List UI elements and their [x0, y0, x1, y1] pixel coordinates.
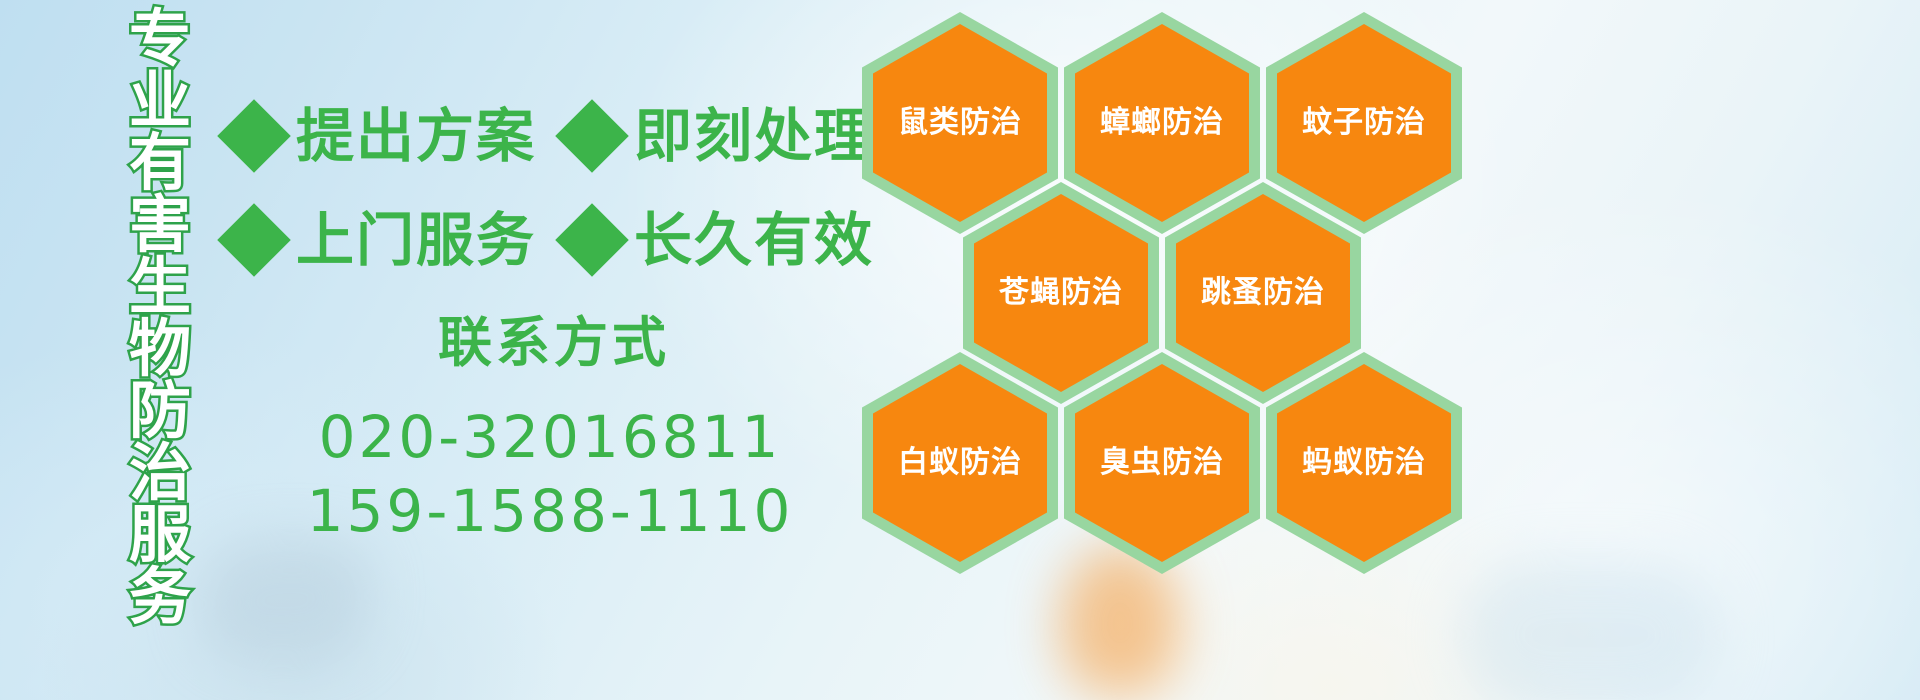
feature-item-onsite-service: 上门服务 — [228, 211, 536, 269]
feature-item-propose-plan: 提出方案 — [228, 107, 536, 165]
vertical-headline-char: 治 — [129, 442, 191, 504]
feature-row: 提出方案 即刻处理 — [228, 84, 868, 188]
phone-number-landline[interactable]: 020-32016811 — [300, 400, 800, 474]
vertical-headline-char: 业 — [129, 70, 191, 132]
service-hex-label: 苍蝇防治 — [999, 278, 1123, 308]
vertical-headline-char: 物 — [129, 318, 191, 380]
hex-inner: 白蚁防治 — [873, 364, 1047, 562]
service-hex-label: 跳蚤防治 — [1201, 278, 1325, 308]
hex-inner: 蟑螂防治 — [1075, 24, 1249, 222]
feature-row: 上门服务 长久有效 — [228, 188, 868, 292]
vertical-headline-char: 有 — [129, 132, 191, 194]
hex-inner: 蚊子防治 — [1277, 24, 1451, 222]
vertical-headline-char: 害 — [129, 194, 191, 256]
service-hex-label: 鼠类防治 — [898, 108, 1022, 138]
contact-heading: 联系方式 — [308, 312, 800, 374]
feature-label: 提出方案 — [296, 107, 536, 165]
phone-number-mobile[interactable]: 159-1588-1110 — [300, 474, 800, 548]
pest-control-promo-banner: 专 业 有 害 生 物 防 治 服 务 提出方案 即刻处理 上门服务 — [0, 0, 1920, 700]
diamond-icon — [555, 203, 629, 277]
hex-inner: 跳蚤防治 — [1176, 194, 1350, 392]
vertical-headline-char: 防 — [129, 380, 191, 442]
vertical-headline-char: 生 — [129, 256, 191, 318]
service-hex-label: 蚂蚁防治 — [1302, 448, 1426, 478]
feature-label: 长久有效 — [634, 211, 874, 269]
hex-inner: 蚂蚁防治 — [1277, 364, 1451, 562]
feature-label: 上门服务 — [296, 211, 536, 269]
feature-list: 提出方案 即刻处理 上门服务 长久有效 — [228, 84, 868, 292]
feature-label: 即刻处理 — [634, 107, 874, 165]
hex-inner: 鼠类防治 — [873, 24, 1047, 222]
service-hex-label: 臭虫防治 — [1100, 448, 1224, 478]
vertical-headline-char: 服 — [129, 504, 191, 566]
background-blur-shape-left — [200, 540, 370, 660]
vertical-headline-char: 专 — [129, 8, 191, 70]
diamond-icon — [217, 203, 291, 277]
feature-item-long-lasting: 长久有效 — [566, 211, 874, 269]
hex-inner: 苍蝇防治 — [974, 194, 1148, 392]
hex-inner: 臭虫防治 — [1075, 364, 1249, 562]
diamond-icon — [217, 99, 291, 173]
vertical-headline: 专 业 有 害 生 物 防 治 服 务 — [108, 8, 212, 568]
feature-item-immediate-treatment: 即刻处理 — [566, 107, 874, 165]
service-hex-label: 蚊子防治 — [1302, 108, 1426, 138]
diamond-icon — [555, 99, 629, 173]
contact-block: 联系方式 020-32016811 159-1588-1110 — [300, 312, 800, 549]
service-hexagon-cluster: 鼠类防治 蟑螂防治 蚊子防治 苍蝇防治 跳蚤防治 白蚁防治 — [862, 4, 1462, 552]
background-blur-shape-right — [1460, 560, 1720, 700]
service-hex-label: 白蚁防治 — [898, 448, 1022, 478]
vertical-headline-char: 务 — [129, 566, 191, 628]
service-hex-label: 蟑螂防治 — [1100, 108, 1224, 138]
